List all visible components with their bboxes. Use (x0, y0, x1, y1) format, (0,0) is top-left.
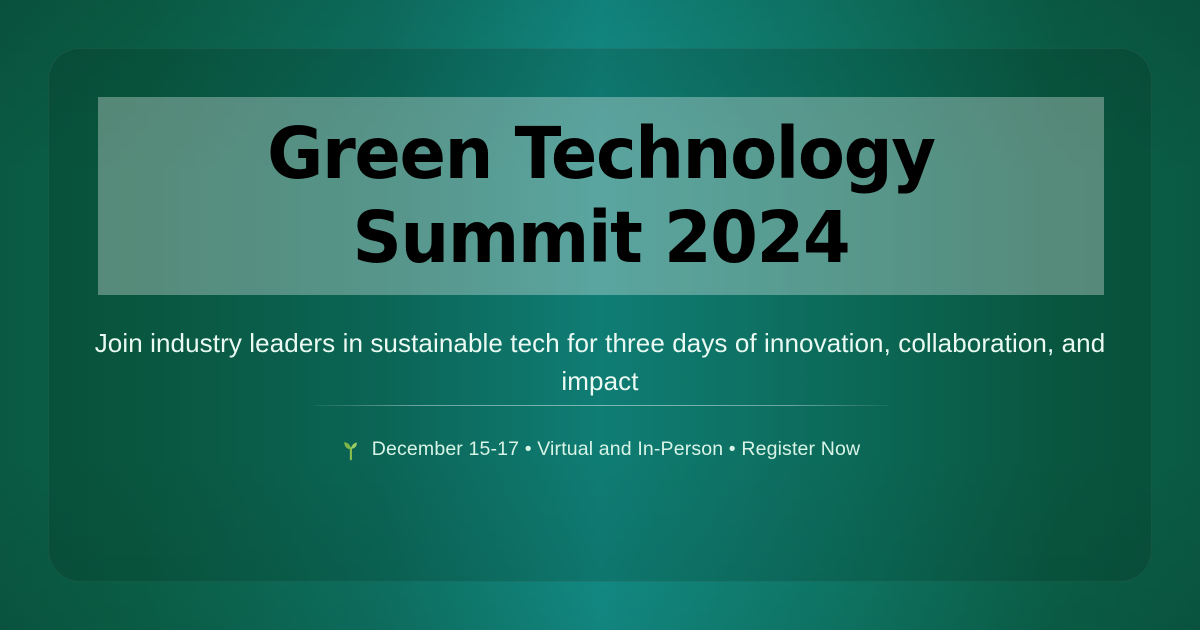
poster-subtitle: Join industry leaders in sustainable tec… (91, 324, 1109, 400)
page-title: Green TechnologySummit 2024 (135, 112, 1067, 280)
poster-card: Green TechnologySummit 2024 Join industr… (48, 48, 1152, 582)
title-line-1: Green Technology (267, 112, 935, 195)
section-divider (314, 405, 888, 406)
seedling-icon (340, 437, 362, 461)
promo-poster: Green TechnologySummit 2024 Join industr… (0, 0, 1200, 630)
event-meta-text: December 15-17 • Virtual and In-Person •… (372, 435, 860, 463)
title-line-2: Summit 2024 (353, 196, 850, 279)
title-banner: Green TechnologySummit 2024 (98, 97, 1104, 295)
event-meta-line[interactable]: December 15-17 • Virtual and In-Person •… (340, 435, 860, 463)
